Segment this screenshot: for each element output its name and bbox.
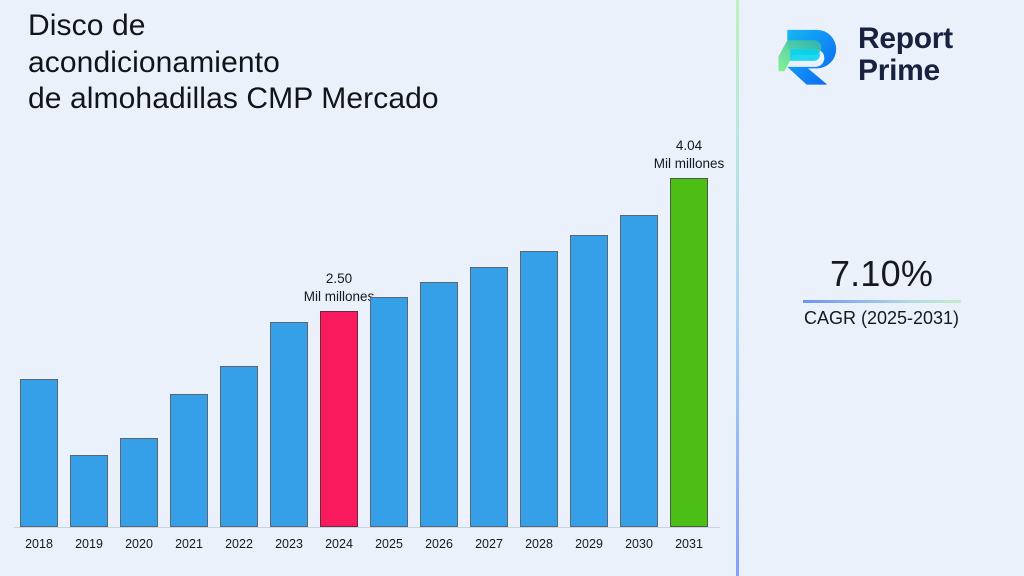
bar-rect-2018[interactable]: [20, 379, 58, 527]
bar-rect-2025[interactable]: [370, 297, 408, 527]
bar-value-number-2031: 4.04: [654, 137, 725, 154]
bar-rect-2024[interactable]: [320, 311, 358, 527]
bar-rect-2029[interactable]: [570, 235, 608, 527]
x-axis-label-2023: 2023: [270, 537, 308, 551]
x-axis-label-2026: 2026: [420, 537, 458, 551]
bar-rect-2026[interactable]: [420, 282, 458, 527]
x-axis-line: [14, 527, 720, 528]
x-axis-label-2031: 2031: [670, 537, 708, 551]
cagr-divider: [803, 300, 961, 303]
bar-2030[interactable]: [620, 215, 658, 527]
bar-2031[interactable]: 4.04Mil millones: [670, 178, 708, 527]
report-slide: Disco de acondicionamiento de almohadill…: [0, 0, 1024, 576]
cagr-block: 7.10% CAGR (2025-2031): [739, 253, 1024, 331]
bar-value-unit-2024: Mil millones: [304, 288, 375, 305]
brand-name-line2: Prime: [858, 54, 940, 87]
x-axis-label-2027: 2027: [470, 537, 508, 551]
report-prime-r-mark-icon: [774, 18, 848, 92]
bar-2025[interactable]: [370, 297, 408, 527]
bar-rect-2022[interactable]: [220, 366, 258, 527]
x-axis-label-2018: 2018: [20, 537, 58, 551]
x-axis-label-2029: 2029: [570, 537, 608, 551]
bar-2029[interactable]: [570, 235, 608, 527]
bar-2023[interactable]: [270, 322, 308, 527]
brand-name: Report Prime: [858, 23, 953, 87]
x-axis-label-2025: 2025: [370, 537, 408, 551]
bar-value-label-2024: 2.50Mil millones: [304, 270, 375, 305]
cagr-value: 7.10%: [739, 253, 1024, 295]
bar-2020[interactable]: [120, 438, 158, 527]
bar-2019[interactable]: [70, 455, 108, 527]
bar-rect-2021[interactable]: [170, 394, 208, 527]
bar-rect-2031[interactable]: [670, 178, 708, 527]
x-axis-label-2022: 2022: [220, 537, 258, 551]
bar-rect-2020[interactable]: [120, 438, 158, 527]
x-axis-label-2030: 2030: [620, 537, 658, 551]
bar-2026[interactable]: [420, 282, 458, 527]
brand-logo: Report Prime: [774, 14, 1006, 96]
bar-2021[interactable]: [170, 394, 208, 527]
bar-2027[interactable]: [470, 267, 508, 527]
x-axis-label-2020: 2020: [120, 537, 158, 551]
x-axis-label-2024: 2024: [320, 537, 358, 551]
x-axis-label-2019: 2019: [70, 537, 108, 551]
bar-rect-2028[interactable]: [520, 251, 558, 527]
bar-value-unit-2031: Mil millones: [654, 155, 725, 172]
bar-2024[interactable]: 2.50Mil millones: [320, 311, 358, 527]
bar-rect-2019[interactable]: [70, 455, 108, 527]
bar-rect-2030[interactable]: [620, 215, 658, 527]
bar-2022[interactable]: [220, 366, 258, 527]
bar-rect-2023[interactable]: [270, 322, 308, 527]
bar-2018[interactable]: [20, 379, 58, 527]
bar-value-number-2024: 2.50: [304, 270, 375, 287]
x-axis-label-2028: 2028: [520, 537, 558, 551]
x-axis-label-2021: 2021: [170, 537, 208, 551]
cagr-caption: CAGR (2025-2031): [739, 307, 1024, 330]
bar-chart: 2.50Mil millones4.04Mil millones 2018201…: [0, 0, 736, 576]
bar-2028[interactable]: [520, 251, 558, 527]
bar-value-label-2031: 4.04Mil millones: [654, 137, 725, 172]
brand-name-line1: Report: [858, 22, 953, 55]
bar-rect-2027[interactable]: [470, 267, 508, 527]
right-panel: Report Prime 7.10% CAGR (2025-2031): [739, 0, 1024, 576]
